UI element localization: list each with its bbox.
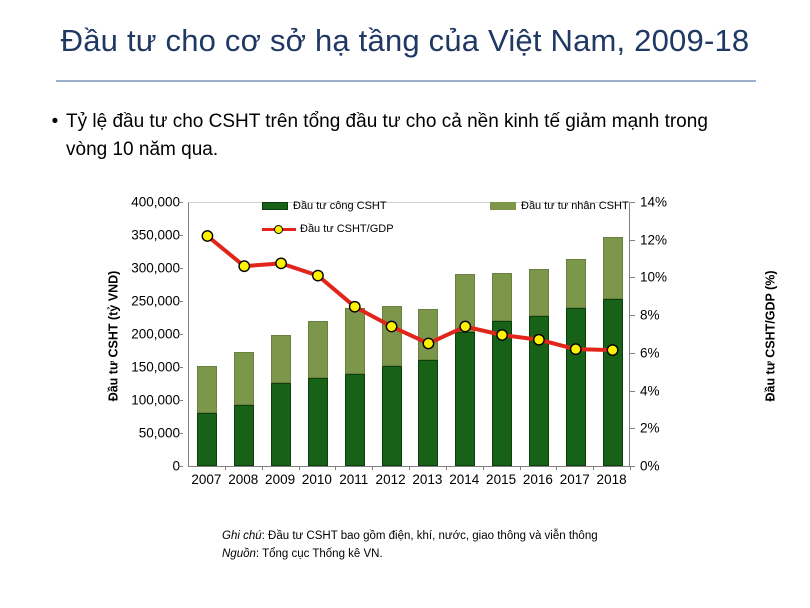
title-divider	[56, 80, 756, 82]
y-axis-left: 050,000100,000150,000200,000250,000300,0…	[126, 202, 180, 466]
gdp-ratio-marker	[386, 321, 396, 331]
y-axis-right-title-text: Đầu tư CSHT/GDP (%)	[764, 270, 778, 401]
legend-swatch-private-icon	[490, 202, 516, 210]
y-tick-right: 12%	[640, 232, 667, 247]
legend-swatch-public-icon	[262, 202, 288, 210]
y-tick-left: 350,000	[131, 228, 180, 243]
x-tick-label: 2012	[376, 472, 406, 487]
infrastructure-investment-chart: Đầu tư CSHT (tỷ VND) Đầu tư CSHT/GDP (%)…	[112, 186, 698, 486]
legend-item-public: Đầu tư công CSHT	[262, 200, 387, 212]
y-tick-left: 400,000	[131, 195, 180, 210]
gdp-ratio-line	[207, 236, 612, 350]
y-axis-left-title-text: Đầu tư CSHT (tỷ VND)	[106, 271, 120, 402]
x-tickmark	[520, 466, 521, 470]
x-tickmark	[262, 466, 263, 470]
note-label: Ghi chú	[222, 530, 262, 542]
y-tickmark-left	[178, 268, 183, 269]
gdp-ratio-marker	[423, 338, 433, 348]
y-tick-right: 0%	[640, 459, 660, 474]
x-tick-label: 2008	[228, 472, 258, 487]
x-tickmark	[556, 466, 557, 470]
y-axis-left-title: Đầu tư CSHT (tỷ VND)	[104, 186, 122, 486]
x-tick-label: 2010	[302, 472, 332, 487]
legend-label-private: Đầu tư tư nhân CSHT	[521, 200, 629, 212]
gdp-ratio-line-series	[189, 203, 631, 467]
x-tick-label: 2014	[449, 472, 479, 487]
y-tickmark-left	[178, 433, 183, 434]
x-tickmark	[593, 466, 594, 470]
gdp-ratio-marker	[571, 344, 581, 354]
x-tick-label: 2009	[265, 472, 295, 487]
y-tickmark-left	[178, 400, 183, 401]
gdp-ratio-marker	[497, 330, 507, 340]
plot-area	[188, 202, 630, 466]
legend-item-gdp-ratio: Đầu tư CSHT/GDP	[262, 223, 394, 235]
x-tick-label: 2017	[560, 472, 590, 487]
x-tickmark	[299, 466, 300, 470]
gdp-ratio-marker	[276, 258, 286, 268]
gdp-ratio-marker	[460, 321, 470, 331]
x-axis: 2007200820092010201120122013201420152016…	[188, 469, 630, 489]
y-tick-right: 2%	[640, 421, 660, 436]
y-tickmark-left	[178, 367, 183, 368]
chart-footnotes: Ghi chú: Đầu tư CSHT bao gồm điện, khí, …	[222, 528, 598, 564]
y-tick-right: 10%	[640, 270, 667, 285]
y-tick-left: 200,000	[131, 327, 180, 342]
y-tick-right: 4%	[640, 383, 660, 398]
y-tickmark-left	[178, 202, 183, 203]
y-axis-right-title: Đầu tư CSHT/GDP (%)	[762, 186, 780, 486]
gdp-ratio-marker	[534, 335, 544, 345]
x-tickmark	[630, 466, 631, 470]
gdp-ratio-marker	[239, 261, 249, 271]
y-axis-right: 0%2%4%6%8%10%12%14%	[630, 202, 690, 466]
source-text: : Tổng cục Thống kê VN.	[256, 548, 383, 560]
y-tick-left: 300,000	[131, 261, 180, 276]
gdp-ratio-marker	[313, 270, 323, 280]
x-tickmark	[335, 466, 336, 470]
y-tick-right: 8%	[640, 308, 660, 323]
y-tick-left: 100,000	[131, 393, 180, 408]
bullet-text: Tỷ lệ đầu tư cho CSHT trên tổng đầu tư c…	[66, 108, 726, 163]
bullet-list: • Tỷ lệ đầu tư cho CSHT trên tổng đầu tư…	[44, 108, 764, 163]
x-tick-label: 2018	[597, 472, 627, 487]
y-tick-left: 150,000	[131, 360, 180, 375]
legend-item-private: Đầu tư tư nhân CSHT	[490, 200, 629, 212]
x-tickmark	[483, 466, 484, 470]
y-tickmark-left	[178, 334, 183, 335]
x-tickmark	[225, 466, 226, 470]
gdp-ratio-marker	[202, 231, 212, 241]
x-tickmark	[372, 466, 373, 470]
y-tick-left: 250,000	[131, 294, 180, 309]
legend-label-gdp-ratio: Đầu tư CSHT/GDP	[300, 223, 394, 235]
y-tickmark-left	[178, 466, 183, 467]
legend-line-marker-icon	[262, 224, 296, 234]
gdp-ratio-marker	[350, 302, 360, 312]
x-tick-label: 2016	[523, 472, 553, 487]
note-line: Ghi chú: Đầu tư CSHT bao gồm điện, khí, …	[222, 528, 598, 546]
legend-label-public: Đầu tư công CSHT	[293, 200, 387, 212]
y-tickmark-left	[178, 301, 183, 302]
y-tick-right: 14%	[640, 195, 667, 210]
slide: Đầu tư cho cơ sở hạ tầng của Việt Nam, 2…	[0, 0, 810, 608]
x-tickmark	[446, 466, 447, 470]
y-tick-left: 50,000	[139, 426, 180, 441]
source-line: Nguồn: Tổng cục Thống kê VN.	[222, 546, 598, 564]
x-tick-label: 2007	[191, 472, 221, 487]
x-tick-label: 2013	[412, 472, 442, 487]
source-label: Nguồn	[222, 548, 256, 560]
y-tick-right: 6%	[640, 345, 660, 360]
bullet-marker: •	[44, 108, 66, 163]
page-title: Đầu tư cho cơ sở hạ tầng của Việt Nam, 2…	[0, 24, 810, 58]
note-text: : Đầu tư CSHT bao gồm điện, khí, nước, g…	[262, 530, 598, 542]
y-tickmark-left	[178, 235, 183, 236]
x-tick-label: 2011	[339, 472, 368, 487]
x-tick-label: 2015	[486, 472, 516, 487]
x-tickmark	[409, 466, 410, 470]
gdp-ratio-marker	[607, 345, 617, 355]
title-container: Đầu tư cho cơ sở hạ tầng của Việt Nam, 2…	[0, 24, 810, 58]
